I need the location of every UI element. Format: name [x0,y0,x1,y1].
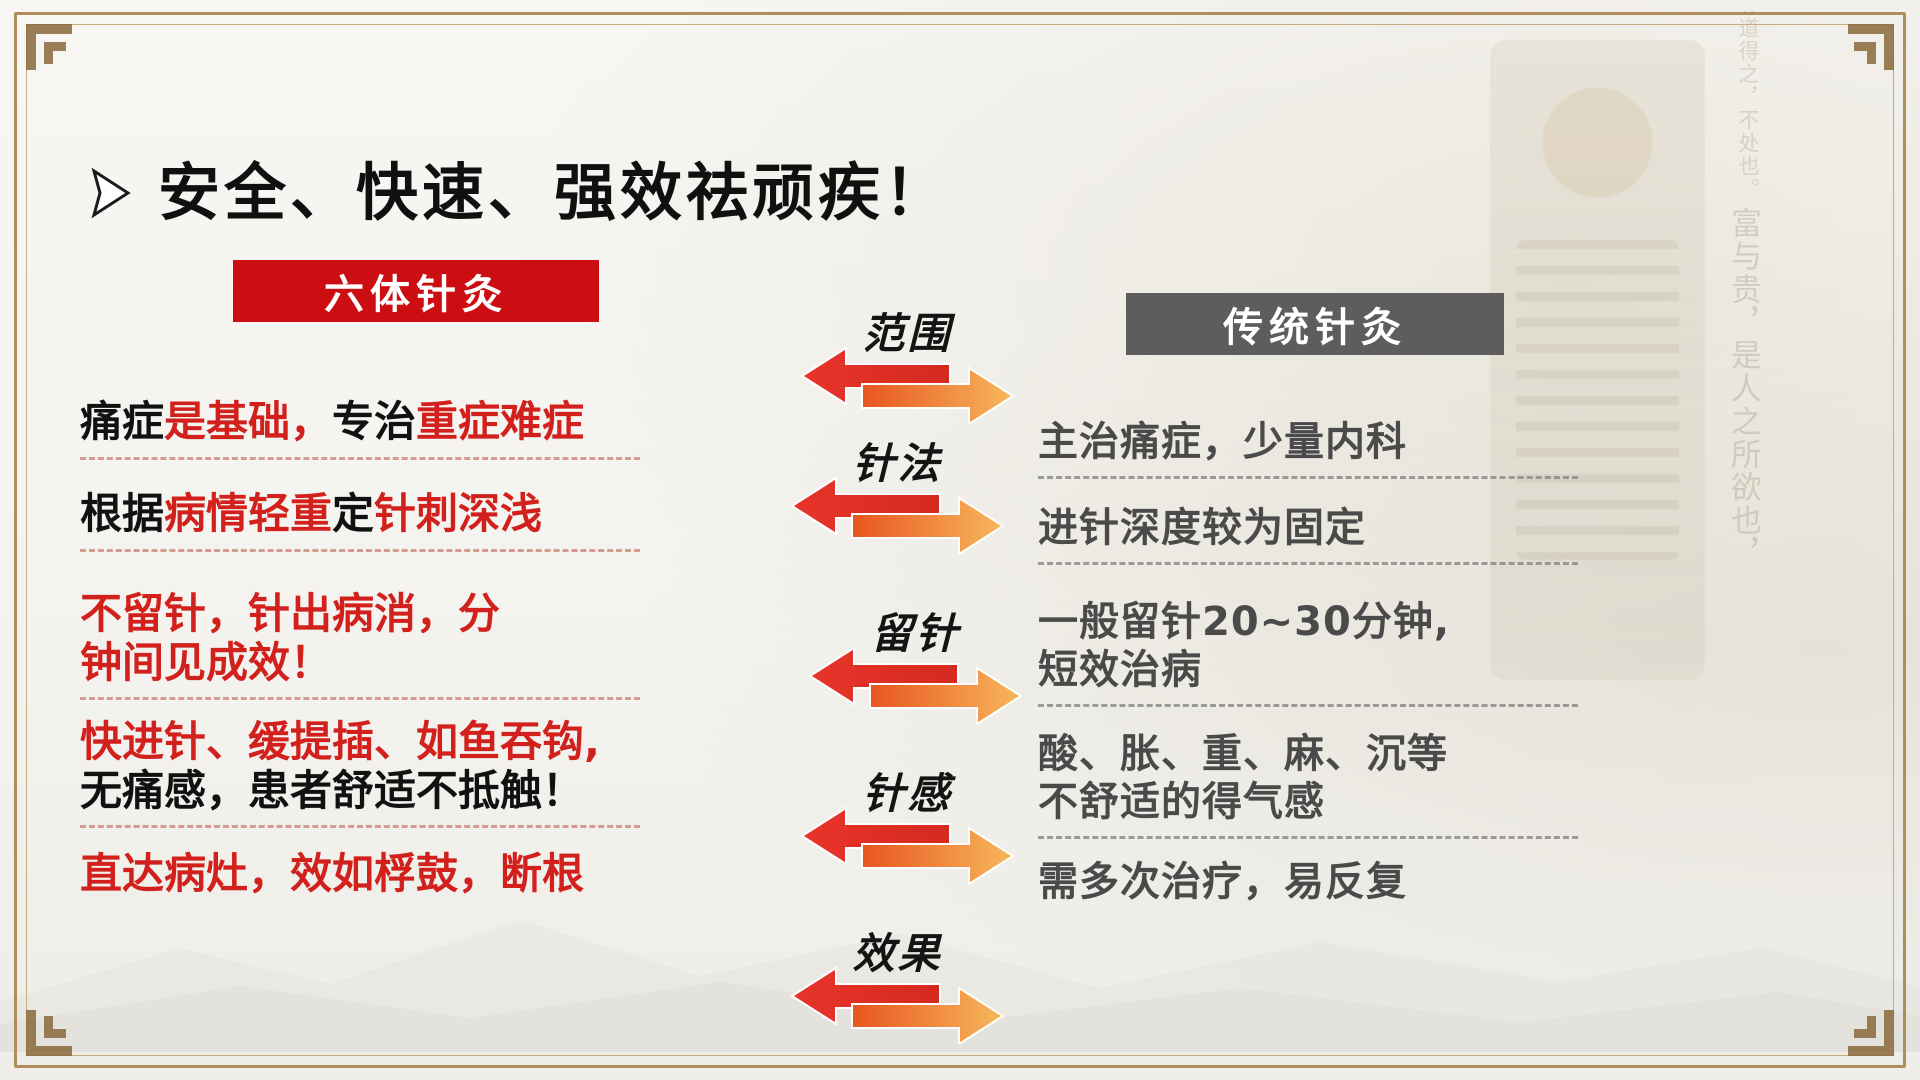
row-divider [1038,476,1578,479]
right-row-line: 进针深度较为固定 [1038,504,1578,552]
highlight-text: 快进针、缓提插、如鱼吞钩, [80,717,600,766]
badge-left-label: 六体针灸 [324,262,508,320]
double-arrow-icon [790,966,1005,1044]
plain-text: 无痛感，患者舒适不抵触！ [80,766,584,815]
right-row-sensation: 酸、胀、重、麻、沉等不舒适的得气感 [1038,730,1578,849]
row-divider [1038,562,1578,565]
left-row-line: 痛症是基础，专治重症难症 [80,398,640,447]
seal-ornament-background [1490,40,1705,680]
right-row-line: 短效治病 [1038,646,1578,694]
left-row-line: 钟间见成效！ [80,639,640,688]
left-row-line: 无痛感，患者舒适不抵触！ [80,767,640,816]
double-arrow-icon [790,476,1005,554]
row-divider [1038,704,1578,707]
slide-heading: 安全、快速、强效祛顽疾！ [88,162,950,224]
corner-ornament-bottom-right-icon [1812,974,1898,1060]
row-divider [80,697,640,700]
right-row-effect: 需多次治疗，易反复 [1038,858,1407,906]
left-row-effect: 直达病灶，效如桴鼓，断根 [80,850,584,899]
chevron-right-arrow-icon [88,167,132,219]
right-row-line: 主治痛症，少量内科 [1038,418,1578,466]
left-row-line: 不留针，针出病消，分 [80,590,640,639]
row-divider [80,825,640,828]
badge-liuti-acupuncture: 六体针灸 [233,260,599,322]
left-row-line: 快进针、缓提插、如鱼吞钩, [80,718,640,767]
badge-traditional-acupuncture: 传统针灸 [1126,293,1504,355]
slide-canvas: 富与贵，是人之所欲也，不以其道得之，不处也。贫与贱，是人之所恶也，不以其道得之，… [0,0,1920,1080]
double-arrow-icon [808,646,1023,724]
right-row-scope: 主治痛症，少量内科 [1038,418,1578,489]
row-divider [1038,836,1578,839]
calligraphy-column: 不以其道得之，不处也。 [1200,10,1760,201]
highlight-text: 针刺深浅 [374,489,542,538]
left-row-line: 根据病情轻重定针刺深浅 [80,490,640,539]
double-arrow-icon [800,346,1015,424]
corner-ornament-top-right-icon [1812,20,1898,106]
right-row-line: 酸、胀、重、麻、沉等 [1038,730,1578,778]
row-divider [80,457,640,460]
badge-right-label: 传统针灸 [1223,295,1407,353]
right-row-needling: 进针深度较为固定 [1038,504,1578,575]
highlight-text: 直达病灶，效如桴鼓，断根 [80,849,584,898]
plain-text: 专治 [332,397,416,446]
highlight-text: 钟间见成效！ [80,638,332,687]
right-row-line: 一般留针20~30分钟, [1038,598,1578,646]
right-row-retention: 一般留针20~30分钟,短效治病 [1038,598,1578,717]
plain-text: 定 [332,489,374,538]
left-row-sensation: 快进针、缓提插、如鱼吞钩,无痛感，患者舒适不抵触！ [80,718,640,838]
highlight-text: 是基础， [164,397,332,446]
plain-text: 根据 [80,489,164,538]
highlight-text: 重症难症 [416,397,584,446]
right-row-line: 不舒适的得气感 [1038,778,1578,826]
left-row-needling: 根据病情轻重定针刺深浅 [80,490,640,562]
corner-ornament-top-left-icon [22,20,108,106]
highlight-text: 病情轻重 [164,489,332,538]
corner-ornament-bottom-left-icon [22,974,108,1060]
left-row-retention: 不留针，针出病消，分钟间见成效！ [80,590,640,710]
left-row-line: 直达病灶，效如桴鼓，断根 [80,850,584,899]
left-row-scope: 痛症是基础，专治重症难症 [80,398,640,470]
right-row-line: 需多次治疗，易反复 [1038,858,1407,906]
double-arrow-icon [800,806,1015,884]
row-divider [80,549,640,552]
plain-text: 痛症 [80,397,164,446]
highlight-text: 不留针，针出病消，分 [80,589,500,638]
heading-text: 安全、快速、强效祛顽疾！ [158,162,950,224]
